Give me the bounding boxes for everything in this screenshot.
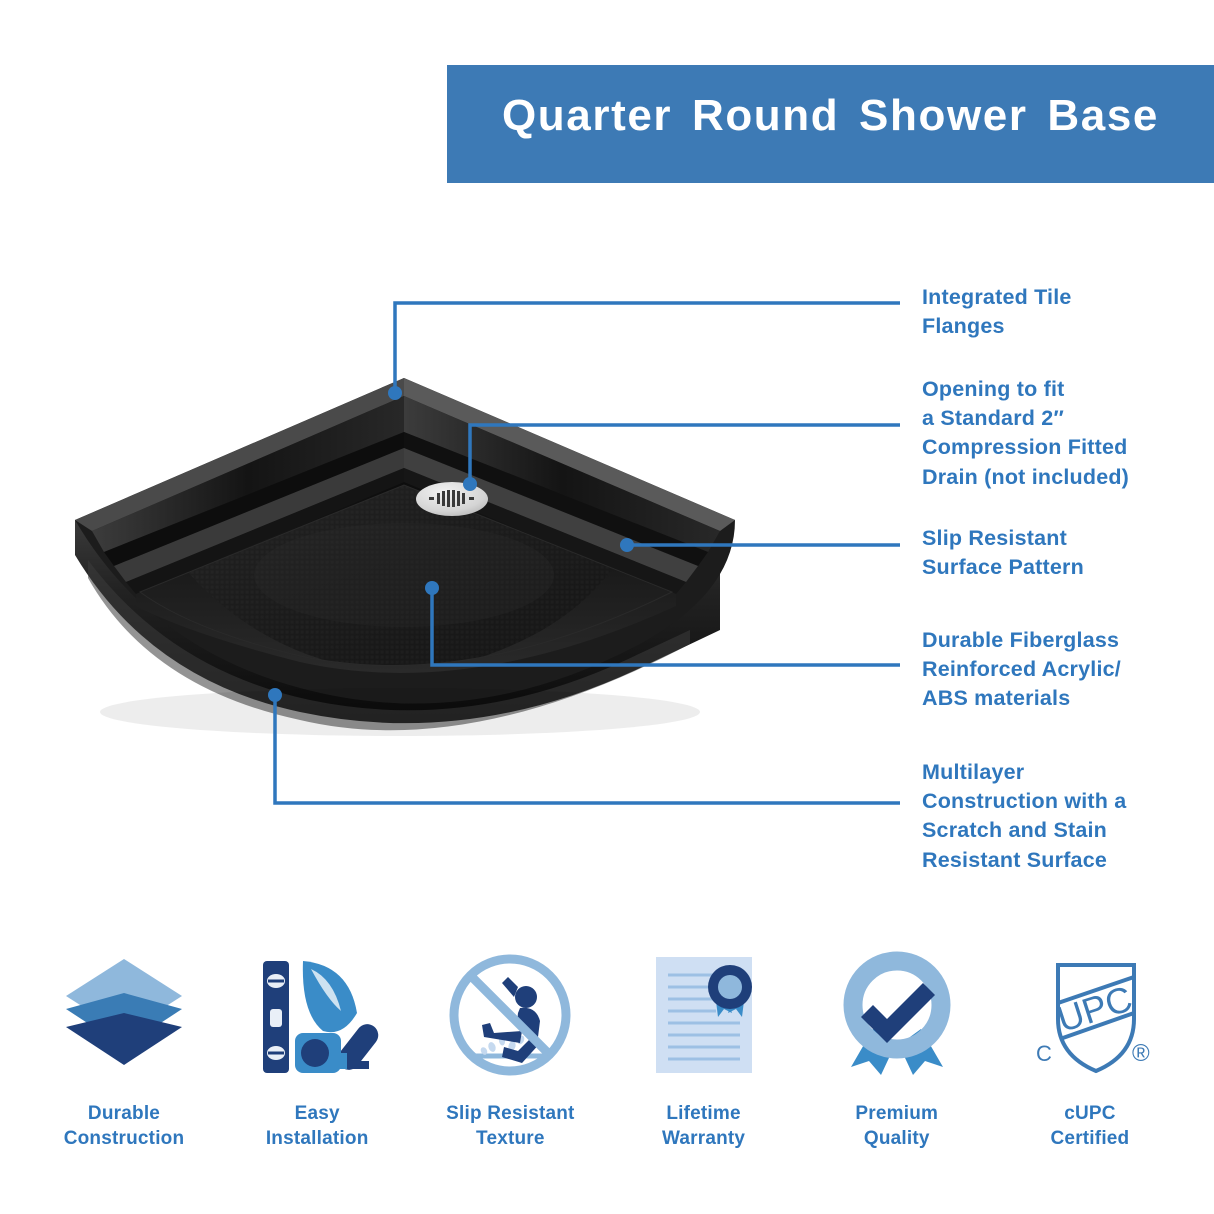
feature-label-durable-construction: Durable Construction <box>64 1101 185 1151</box>
leader-dot-slip-resistant-surface-pattern <box>620 538 634 552</box>
leader-dot-durable-fiberglass-materials <box>425 581 439 595</box>
certificate-icon <box>640 945 768 1085</box>
level-trowel-tape-icon <box>253 945 381 1085</box>
feature-label-lifetime-warranty: Lifetime Warranty <box>662 1101 745 1151</box>
feature-label-premium-quality: Premium Quality <box>855 1101 938 1151</box>
callout-label-slip-resistant-surface-pattern: Slip Resistant Surface Pattern <box>922 524 1084 582</box>
feature-label-cupc-certified: cUPC Certified <box>1051 1101 1130 1151</box>
leader-dot-multilayer-construction <box>268 688 282 702</box>
upc-badge-prefix: C <box>1036 1041 1052 1066</box>
feature-premium-quality: Premium Quality <box>807 945 987 1151</box>
feature-easy-installation: Easy Installation <box>227 945 407 1151</box>
leader-line-durable-fiberglass-materials <box>432 588 900 665</box>
leader-line-multilayer-construction <box>275 695 900 803</box>
leader-dot-integrated-tile-flanges <box>388 386 402 400</box>
leader-line-drain-opening <box>470 425 900 484</box>
callout-label-drain-opening: Opening to fit a Standard 2″ Compression… <box>922 375 1129 492</box>
checkmark-rosette-icon <box>833 945 961 1085</box>
upc-badge-text: UPC <box>1052 977 1137 1039</box>
feature-slip-resistant-texture: Slip Resistant Texture <box>420 945 600 1151</box>
header-banner: Quarter Round Shower Base <box>447 65 1214 183</box>
leader-dot-drain-opening <box>463 477 477 491</box>
callout-label-multilayer-construction: Multilayer Construction with a Scratch a… <box>922 758 1126 875</box>
feature-lifetime-warranty: Lifetime Warranty <box>614 945 794 1151</box>
layers-icon <box>60 945 188 1085</box>
upc-badge-suffix: ® <box>1132 1040 1150 1067</box>
leader-line-integrated-tile-flanges <box>395 303 900 393</box>
feature-label-easy-installation: Easy Installation <box>266 1101 369 1151</box>
feature-label-slip-resistant-texture: Slip Resistant Texture <box>446 1101 574 1151</box>
feature-durable-construction: Durable Construction <box>34 945 214 1151</box>
callout-label-durable-fiberglass-materials: Durable Fiberglass Reinforced Acrylic/ A… <box>922 626 1121 714</box>
feature-strip: Durable Construction <box>0 945 1214 1195</box>
feature-cupc-certified: UPC C ® cUPC Certified <box>1000 945 1180 1151</box>
no-slip-icon <box>446 945 574 1085</box>
page-title: Quarter Round Shower Base <box>502 91 1159 141</box>
upc-shield-icon: UPC C ® <box>1022 945 1158 1085</box>
callout-label-integrated-tile-flanges: Integrated Tile Flanges <box>922 283 1072 341</box>
